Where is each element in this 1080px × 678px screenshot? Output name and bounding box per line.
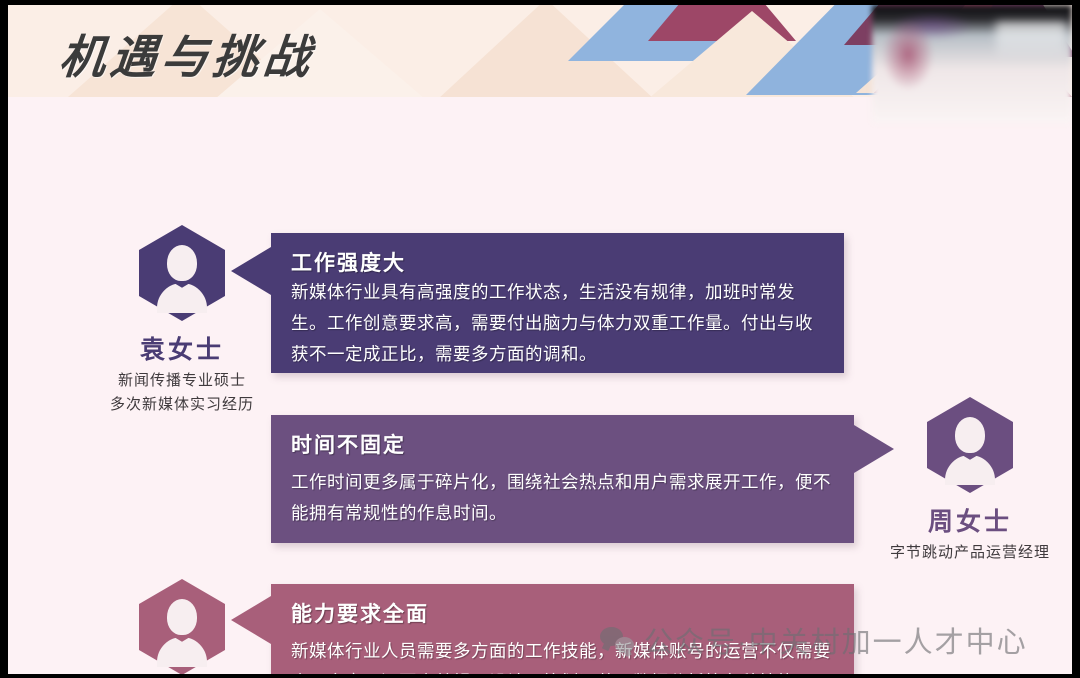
page-title: 机遇与挑战 — [57, 21, 319, 87]
content-card-1[interactable]: 工作强度大 新媒体行业具有高强度的工作状态，生活没有规律，加班时常发生。工作创意… — [271, 233, 844, 373]
card-1-body: 新媒体行业具有高强度的工作状态，生活没有规律，加班时常发生。工作创意要求高，需要… — [291, 277, 826, 370]
person-card-1[interactable]: 袁女士 新闻传播专业硕士 多次新媒体实习经历 — [82, 225, 282, 417]
card-1-heading: 工作强度大 — [291, 247, 826, 277]
card-2-heading: 时间不固定 — [291, 429, 836, 459]
person-card-2[interactable]: 周女士 字节跳动产品运营经理 — [868, 397, 1072, 565]
watermark: 公众号·中关村加一人才中心 — [600, 619, 1028, 661]
wechat-icon — [600, 627, 634, 653]
card-2-body: 工作时间更多属于碎片化，围绕社会热点和用户需求展开工作，便不能拥有常规性的作息时… — [291, 467, 836, 529]
slide-screenshot: 机遇与挑战 工作强度大 新媒体行业具有高强度的工作状态，生活没有规律，加班时常发… — [0, 0, 1080, 678]
avatar-3 — [139, 579, 225, 674]
page-title-wrap: 机遇与挑战 — [60, 21, 315, 87]
person-1-desc-line2: 多次新媒体实习经历 — [82, 393, 282, 417]
person-silhouette-icon — [945, 417, 995, 485]
avatar-1 — [139, 225, 225, 321]
person-2-desc-line1: 字节跳动产品运营经理 — [868, 541, 1072, 565]
avatar-2 — [927, 397, 1013, 493]
webcam-overlay — [872, 5, 1072, 123]
person-silhouette-icon — [157, 599, 207, 667]
person-2-name: 周女士 — [868, 502, 1072, 538]
content-card-2[interactable]: 时间不固定 工作时间更多属于碎片化，围绕社会热点和用户需求展开工作，便不能拥有常… — [271, 415, 854, 543]
watermark-text: 公众号·中关村加一人才中心 — [644, 619, 1028, 661]
person-1-desc-line1: 新闻传播专业硕士 — [82, 369, 282, 393]
person-1-name: 袁女士 — [82, 330, 282, 366]
person-silhouette-icon — [157, 245, 207, 313]
slide-body: 工作强度大 新媒体行业具有高强度的工作状态，生活没有规律，加班时常发生。工作创意… — [8, 97, 1072, 674]
slide-frame: 机遇与挑战 工作强度大 新媒体行业具有高强度的工作状态，生活没有规律，加班时常发… — [8, 5, 1072, 674]
person-card-3[interactable]: 郑先生 星辰传媒公司创始人 — [84, 579, 280, 674]
